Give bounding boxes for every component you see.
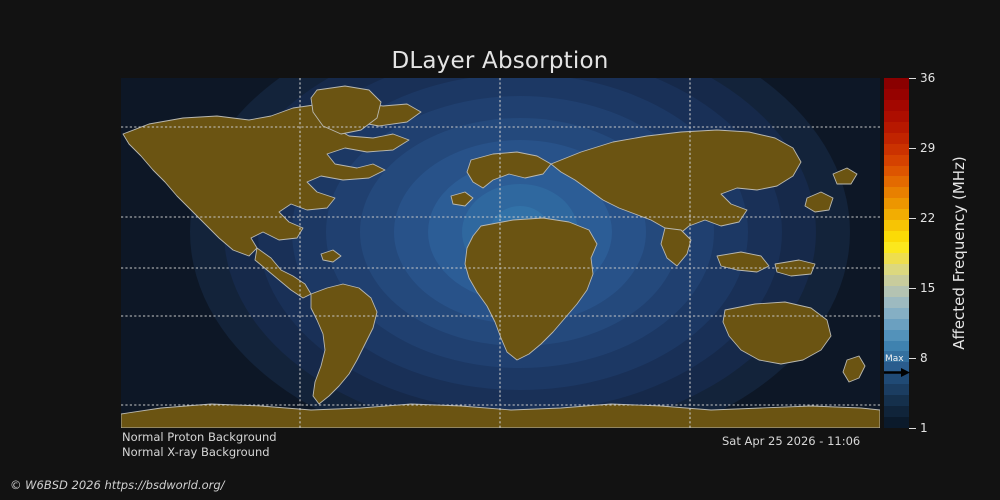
colorbar-tick-label: 8 bbox=[920, 351, 928, 365]
copyright-notice: © W6BSD 2026 https://bsdworld.org/ bbox=[10, 478, 225, 492]
colorbar-tick-label: 22 bbox=[920, 211, 935, 225]
colorbar-gradient bbox=[884, 78, 909, 428]
colorbar-band bbox=[884, 373, 909, 384]
page-title: DLayer Absorption bbox=[0, 48, 1000, 74]
colorbar-tick-label: 1 bbox=[920, 421, 928, 435]
colorbar-band bbox=[884, 187, 909, 198]
colorbar-band bbox=[884, 89, 909, 100]
colorbar-band bbox=[884, 253, 909, 264]
colorbar-band bbox=[884, 297, 909, 308]
colorbar-band bbox=[884, 176, 909, 187]
colorbar-band bbox=[884, 351, 909, 362]
colorbar-axis-label-text: Affected Frequency (MHz) bbox=[950, 156, 968, 350]
colorbar-tick bbox=[909, 288, 916, 289]
colorbar-tick bbox=[909, 218, 916, 219]
colorbar-tick bbox=[909, 358, 916, 359]
colorbar-band bbox=[884, 362, 909, 373]
colorbar-band bbox=[884, 242, 909, 253]
colorbar-tick bbox=[909, 148, 916, 149]
colorbar-band bbox=[884, 209, 909, 220]
colorbar-band bbox=[884, 144, 909, 155]
colorbar-band bbox=[884, 78, 909, 89]
colorbar-band bbox=[884, 122, 909, 133]
colorbar-band bbox=[884, 166, 909, 177]
colorbar-band bbox=[884, 286, 909, 297]
colorbar-band bbox=[884, 384, 909, 395]
colorbar-tick-label: 36 bbox=[920, 71, 935, 85]
colorbar-band bbox=[884, 220, 909, 231]
colorbar-tick-label: 15 bbox=[920, 281, 935, 295]
colorbar-band bbox=[884, 198, 909, 209]
colorbar-tick bbox=[909, 428, 916, 429]
colorbar-band bbox=[884, 264, 909, 275]
proton-background-status: Normal Proton Background bbox=[122, 430, 277, 444]
colorbar-band bbox=[884, 155, 909, 166]
world-map-svg bbox=[121, 78, 880, 428]
colorbar-band bbox=[884, 395, 909, 406]
colorbar-band bbox=[884, 406, 909, 417]
colorbar-tick bbox=[909, 78, 916, 79]
colorbar-band bbox=[884, 341, 909, 352]
colorbar[interactable]: 1815222936 bbox=[884, 78, 909, 428]
colorbar-band bbox=[884, 275, 909, 286]
colorbar-band bbox=[884, 111, 909, 122]
world-map-panel[interactable] bbox=[121, 78, 880, 428]
colorbar-axis-label: Affected Frequency (MHz) bbox=[948, 78, 970, 428]
colorbar-band bbox=[884, 308, 909, 319]
timestamp: Sat Apr 25 2026 - 11:06 bbox=[722, 434, 860, 448]
colorbar-band bbox=[884, 231, 909, 242]
xray-background-status: Normal X-ray Background bbox=[122, 445, 270, 459]
colorbar-band bbox=[884, 417, 909, 428]
colorbar-band bbox=[884, 133, 909, 144]
colorbar-tick-label: 29 bbox=[920, 141, 935, 155]
colorbar-band bbox=[884, 100, 909, 111]
colorbar-band bbox=[884, 319, 909, 330]
colorbar-band bbox=[884, 330, 909, 341]
